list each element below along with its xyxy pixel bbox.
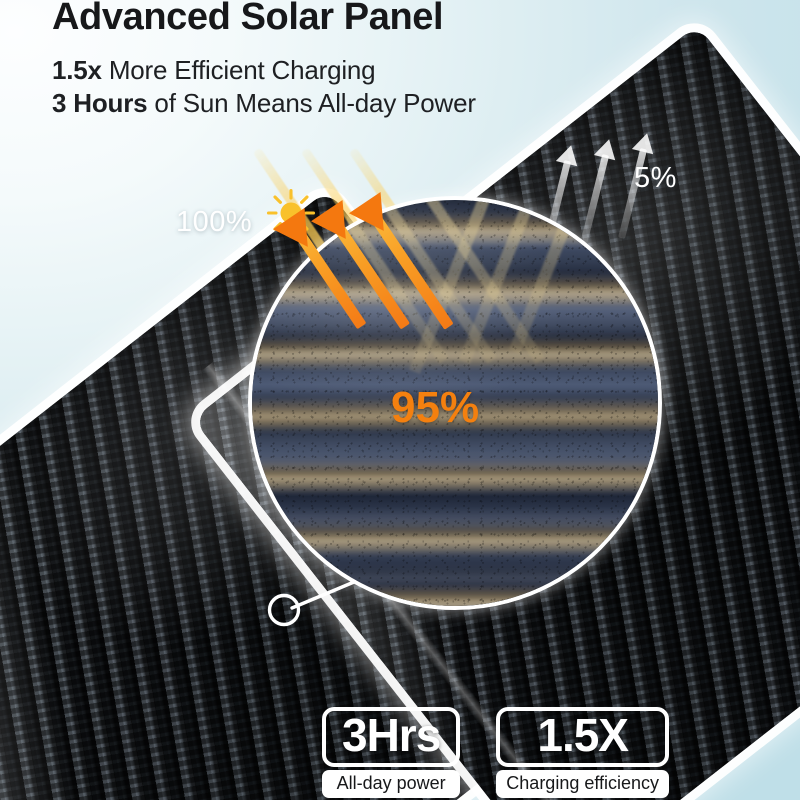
subheadline-line: 3 Hours of Sun Means All-day Power [52, 87, 476, 121]
subheadline-strong: 3 Hours [52, 88, 147, 118]
infographic-canvas: 100% 5% 95% Advanced Solar Panel 1.5x Mo… [0, 0, 800, 800]
magnifier-icon [230, 560, 410, 640]
badge-caption: Charging efficiency [496, 770, 669, 798]
incident-percent-label: 100% [176, 206, 252, 239]
subheadline-line: 1.5x More Efficient Charging [52, 54, 476, 88]
badge-value: 1.5X [496, 707, 669, 767]
badge-charging-efficiency: 1.5X Charging efficiency [496, 707, 669, 798]
subheadline-rest: More Efficient Charging [102, 55, 376, 85]
subheadline-block: 1.5x More Efficient Charging 3 Hours of … [52, 54, 476, 122]
badge-caption: All-day power [322, 770, 460, 798]
subheadline-strong: 1.5x [52, 55, 102, 85]
badge-all-day-power: 3Hrs All-day power [322, 707, 460, 798]
absorbed-percent-label: 95% [391, 383, 479, 433]
badge-value: 3Hrs [322, 707, 460, 767]
reflected-percent-label: 5% [634, 162, 677, 195]
headline-block: Advanced Solar Panel 1.5x More Efficient… [52, 0, 476, 121]
subheadline-rest: of Sun Means All-day Power [147, 88, 475, 118]
page-title: Advanced Solar Panel [52, 0, 476, 40]
feature-badges: 3Hrs All-day power 1.5X Charging efficie… [322, 707, 669, 798]
